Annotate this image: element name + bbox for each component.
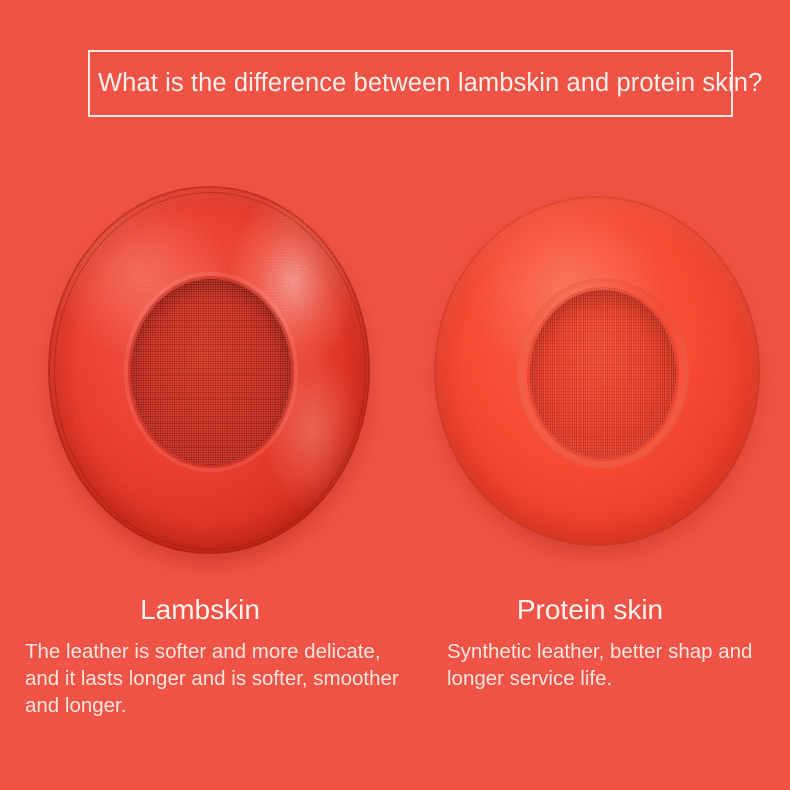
protein-skin-mesh-texture: [530, 290, 676, 458]
lambskin-heading: Lambskin: [0, 594, 400, 626]
protein-skin-description: Synthetic leather, better shap and longe…: [447, 638, 777, 692]
lambskin-description: The leather is softer and more delicate,…: [25, 638, 415, 719]
product-comparison-image: What is the difference between lambskin …: [0, 0, 790, 790]
protein-skin-heading: Protein skin: [390, 594, 790, 626]
lambskin-mesh-texture: [131, 279, 291, 465]
question-text: What is the difference between lambskin …: [98, 69, 762, 98]
question-banner: What is the difference between lambskin …: [88, 50, 733, 117]
